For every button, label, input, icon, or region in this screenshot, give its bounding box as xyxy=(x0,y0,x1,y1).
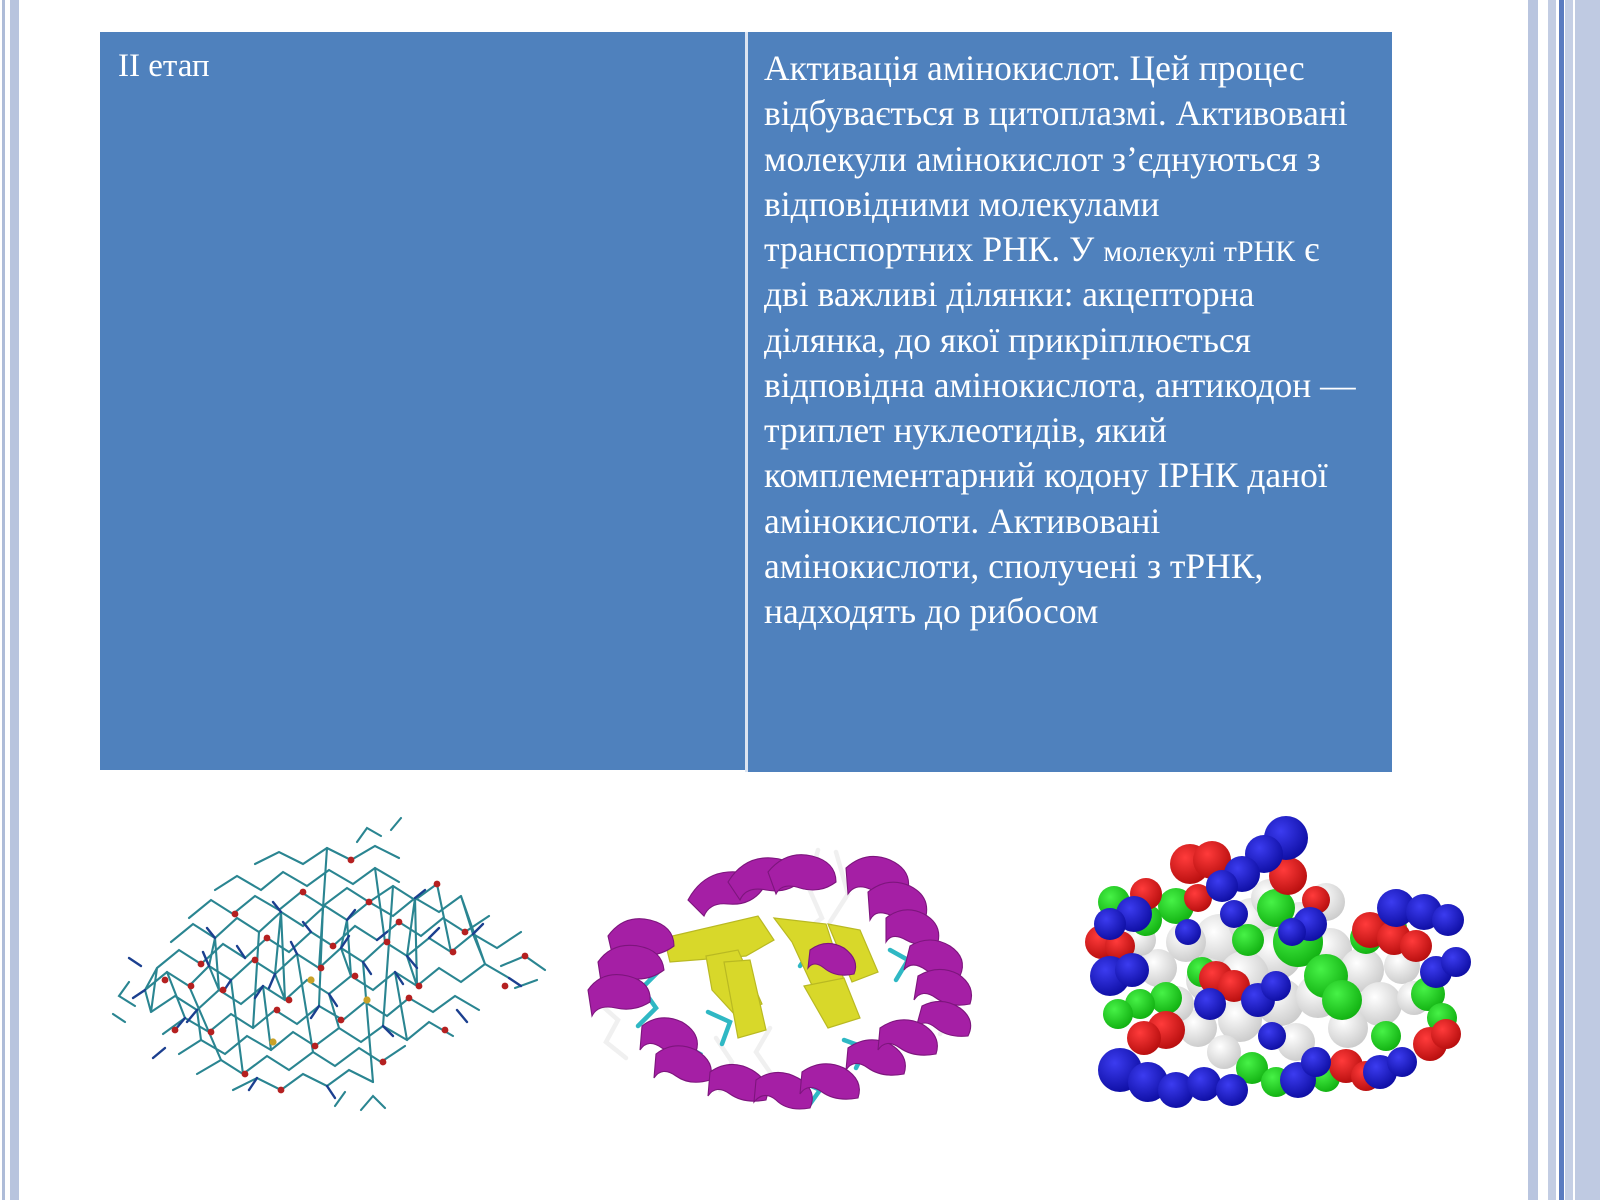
molecule-figure-strip xyxy=(60,790,1500,1130)
right-border-band-inner-right xyxy=(1565,0,1573,1200)
stage-description-tail: є дві важливі ділянки: акцепторна ділянк… xyxy=(764,229,1356,631)
right-border-accent-rule xyxy=(1559,0,1564,1200)
stage-label: II етап xyxy=(118,46,745,86)
right-border-band-outer-right xyxy=(1575,0,1600,1200)
slide-canvas: II етап Активація амінокислот. Цей проце… xyxy=(0,0,1600,1200)
protein-stick-model-image xyxy=(105,790,565,1120)
table-cell-stage-description: Активація амінокислот. Цей процес відбув… xyxy=(745,32,1392,772)
protein-surface-model-image xyxy=(1080,790,1480,1120)
stage-description-small-run: молекулі тРНК xyxy=(1103,235,1295,268)
right-border-band-outer-left xyxy=(1528,0,1538,1200)
table-cell-stage-label: II етап xyxy=(100,32,745,770)
stage-description: Активація амінокислот. Цей процес відбув… xyxy=(764,46,1372,634)
left-border-band xyxy=(10,0,19,1200)
right-border-band-inner-left xyxy=(1548,0,1556,1200)
left-border-thin-line xyxy=(2,0,5,1200)
stage-table: II етап Активація амінокислот. Цей проце… xyxy=(100,32,1392,772)
protein-ribbon-model-image xyxy=(560,790,1010,1110)
